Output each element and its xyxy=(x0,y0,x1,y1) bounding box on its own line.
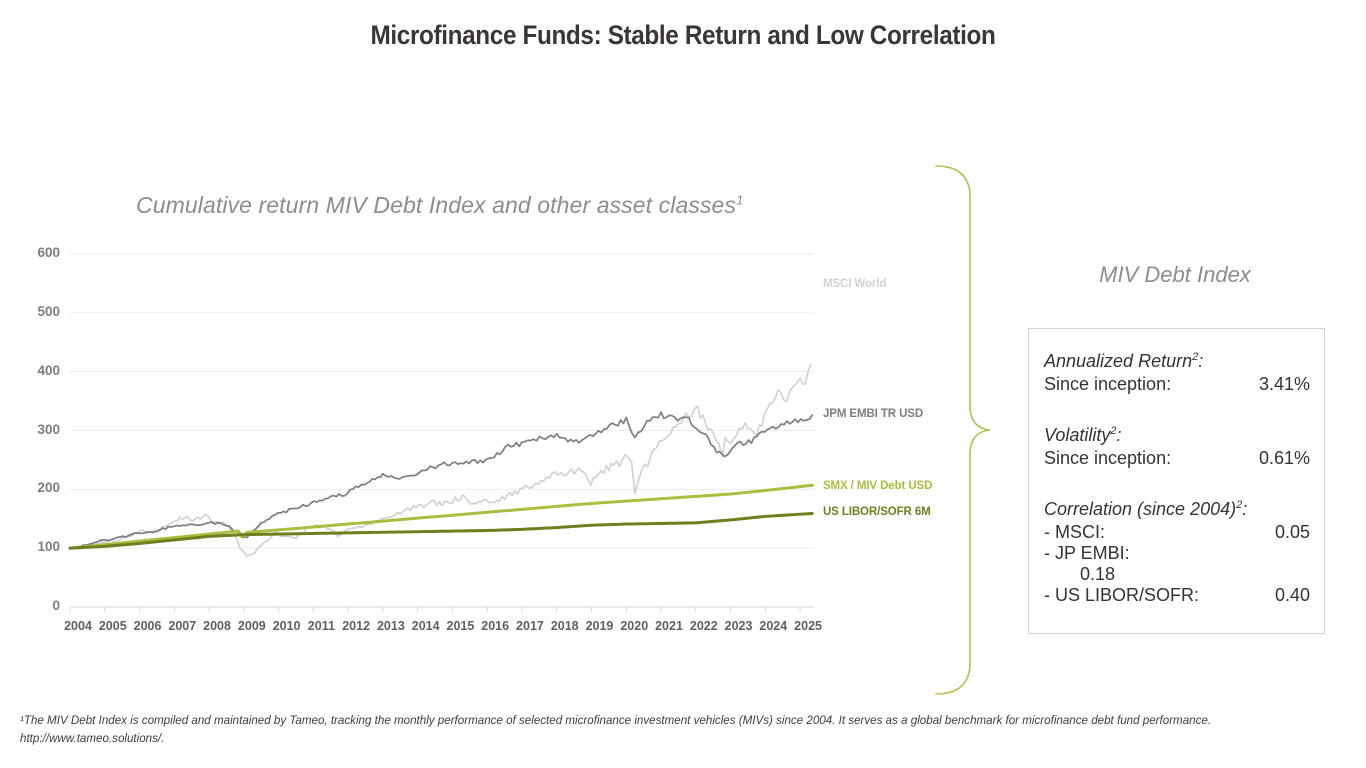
correlation-heading: Correlation (since 2004)2: xyxy=(1044,499,1310,520)
line-chart-plot: 0100200300400500600200420052006200720082… xyxy=(24,244,924,634)
colon: : xyxy=(1198,351,1203,371)
volatility-heading: Volatility2: xyxy=(1044,425,1310,446)
y-axis-tick-label: 200 xyxy=(16,480,60,495)
correlation-msci-value: 0.05 xyxy=(1275,522,1310,543)
series-label: JPM EMBI TR USD xyxy=(823,408,923,420)
correlation-uslibor-value: 0.40 xyxy=(1275,585,1310,606)
volatility-value: 0.61% xyxy=(1259,448,1310,469)
annualized-return-heading: Annualized Return2: xyxy=(1044,351,1310,372)
series-label: MSCI World xyxy=(823,278,886,290)
y-axis-tick-label: 100 xyxy=(16,539,60,554)
volatility-heading-text: Volatility xyxy=(1044,425,1110,445)
colon: : xyxy=(1242,499,1247,519)
correlation-jpembi-label: - JP EMBI: xyxy=(1044,543,1310,564)
correlation-group: Correlation (since 2004)2: - MSCI: 0.05 … xyxy=(1044,499,1310,606)
chart-subtitle-footnote-marker: 1 xyxy=(736,192,743,207)
spacer-1 xyxy=(1044,399,1310,425)
right-panel-heading: MIV Debt Index xyxy=(1020,262,1330,288)
correlation-heading-text: Correlation (since 2004) xyxy=(1044,499,1236,519)
y-axis-tick-label: 400 xyxy=(16,363,60,378)
annualized-return-row: Since inception: 3.41% xyxy=(1044,374,1310,395)
colon: : xyxy=(1116,425,1121,445)
y-axis-tick-label: 500 xyxy=(16,304,60,319)
spacer-2 xyxy=(1044,473,1310,499)
series-line xyxy=(70,365,811,557)
chart-subtitle: Cumulative return MIV Debt Index and oth… xyxy=(136,192,743,219)
metrics-info-box: Annualized Return2: Since inception: 3.4… xyxy=(1028,328,1325,634)
x-axis-tick-label: 2025 xyxy=(788,619,828,633)
volatility-group: Volatility2: Since inception: 0.61% xyxy=(1044,425,1310,469)
annualized-return-heading-text: Annualized Return xyxy=(1044,351,1192,371)
correlation-msci-label: - MSCI: xyxy=(1044,522,1105,543)
volatility-row: Since inception: 0.61% xyxy=(1044,448,1310,469)
y-axis-tick-label: 300 xyxy=(16,422,60,437)
annualized-return-value: 3.41% xyxy=(1259,374,1310,395)
y-axis-tick-label: 600 xyxy=(16,245,60,260)
correlation-uslibor-label: - US LIBOR/SOFR: xyxy=(1044,585,1199,606)
series-label: US LIBOR/SOFR 6M xyxy=(823,506,931,518)
chart-panel: Cumulative return MIV Debt Index and oth… xyxy=(0,0,940,700)
correlation-row-msci: - MSCI: 0.05 xyxy=(1044,522,1310,543)
chart-subtitle-text: Cumulative return MIV Debt Index and oth… xyxy=(136,192,736,218)
correlation-jpembi-value: 0.18 xyxy=(1044,564,1310,585)
chart-svg xyxy=(24,244,924,634)
curly-brace-connector xyxy=(928,160,998,700)
y-axis-tick-label: 0 xyxy=(16,598,60,613)
series-label: SMX / MIV Debt USD xyxy=(823,480,932,492)
annualized-return-group: Annualized Return2: Since inception: 3.4… xyxy=(1044,351,1310,395)
series-line xyxy=(70,412,812,548)
annualized-return-label: Since inception: xyxy=(1044,374,1171,395)
footnote: ¹The MIV Debt Index is compiled and main… xyxy=(20,712,1320,748)
volatility-label: Since inception: xyxy=(1044,448,1171,469)
correlation-row-us-libor-sofr: - US LIBOR/SOFR: 0.40 xyxy=(1044,585,1310,606)
correlation-row-jp-embi: - JP EMBI: 0.18 xyxy=(1044,543,1310,585)
slide-root: Microfinance Funds: Stable Return and Lo… xyxy=(0,0,1366,768)
